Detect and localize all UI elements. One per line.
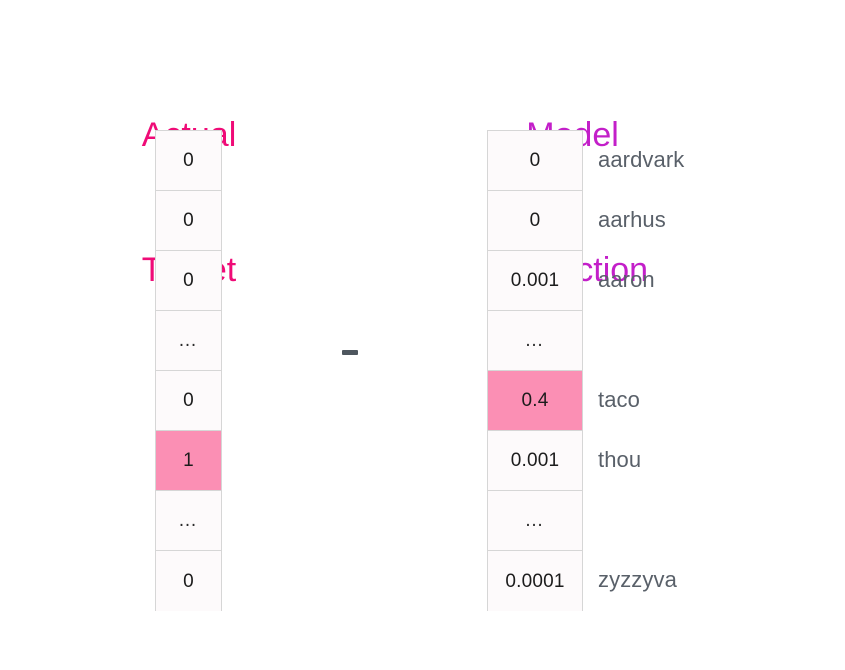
model-prediction-cell-value: 0 bbox=[530, 151, 541, 170]
model-prediction-cell: 0.001 bbox=[488, 431, 582, 491]
vocabulary-word-label: thou bbox=[598, 430, 641, 490]
actual-target-cell: 0 bbox=[156, 551, 221, 611]
model-prediction-cell-value: 0.4 bbox=[521, 391, 548, 410]
model-prediction-cell: … bbox=[488, 491, 582, 551]
vocabulary-word-label: zyzzyva bbox=[598, 550, 677, 610]
actual-target-cell-value: … bbox=[178, 511, 199, 530]
model-prediction-cell: … bbox=[488, 311, 582, 371]
model-prediction-vector: 000.001…0.40.001…0.0001 bbox=[487, 130, 583, 611]
actual-target-cell: … bbox=[156, 491, 221, 551]
actual-target-cell: … bbox=[156, 311, 221, 371]
actual-target-cell: 0 bbox=[156, 371, 221, 431]
actual-target-vector: 000…01…0 bbox=[155, 130, 222, 611]
vocabulary-word-label: taco bbox=[598, 370, 640, 430]
actual-target-cell: 0 bbox=[156, 251, 221, 311]
actual-target-cell-value: 0 bbox=[183, 151, 194, 170]
model-prediction-cell: 0 bbox=[488, 191, 582, 251]
model-prediction-cell-value: … bbox=[525, 331, 546, 350]
diagram-canvas: Actual Target Model Prediction 000…01…0 … bbox=[0, 0, 845, 670]
model-prediction-cell-value: … bbox=[525, 511, 546, 530]
actual-target-cell-value: 0 bbox=[183, 572, 194, 591]
model-prediction-cell: 0.001 bbox=[488, 251, 582, 311]
model-prediction-cell: 0.0001 bbox=[488, 551, 582, 611]
model-prediction-cell: 0 bbox=[488, 131, 582, 191]
vocabulary-word-label: aardvark bbox=[598, 130, 684, 190]
model-prediction-cell-value: 0 bbox=[530, 211, 541, 230]
vocabulary-word-label: aaron bbox=[598, 250, 655, 310]
minus-bar bbox=[342, 350, 358, 355]
model-prediction-cell-value: 0.001 bbox=[511, 271, 560, 290]
actual-target-cell: 1 bbox=[156, 431, 221, 491]
minus-operator-icon bbox=[336, 330, 364, 374]
model-prediction-cell-value: 0.001 bbox=[511, 451, 560, 470]
actual-target-cell-value: 1 bbox=[183, 451, 194, 470]
actual-target-cell-value: 0 bbox=[183, 391, 194, 410]
actual-target-cell: 0 bbox=[156, 131, 221, 191]
actual-target-cell-value: 0 bbox=[183, 211, 194, 230]
vocabulary-word-label: aarhus bbox=[598, 190, 666, 250]
model-prediction-cell-value: 0.0001 bbox=[505, 572, 564, 591]
model-prediction-cell: 0.4 bbox=[488, 371, 582, 431]
actual-target-cell-value: … bbox=[178, 331, 199, 350]
actual-target-cell: 0 bbox=[156, 191, 221, 251]
actual-target-cell-value: 0 bbox=[183, 271, 194, 290]
